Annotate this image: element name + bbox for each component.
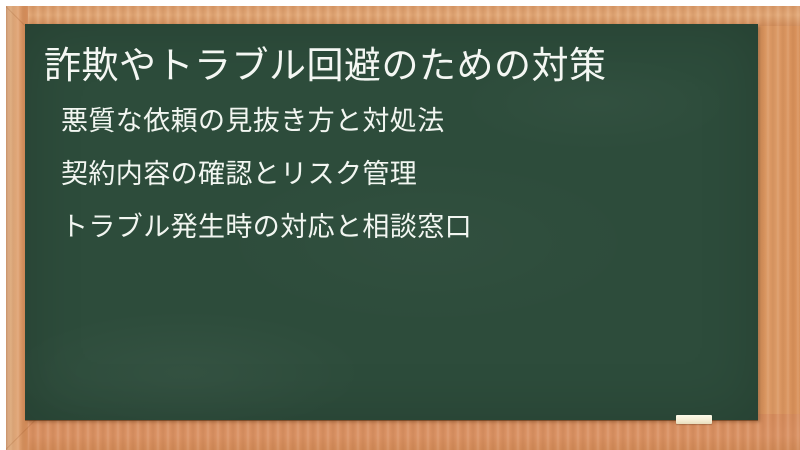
chalkboard-surface: 詐欺やトラブル回避のための対策 悪質な依頼の見抜き方と対処法 契約内容の確認とリ… — [25, 24, 758, 420]
bullet-item: 悪質な依頼の見抜き方と対処法 — [61, 108, 721, 135]
bullet-item: 契約内容の確認とリスク管理 — [61, 161, 721, 188]
bullet-list: 悪質な依頼の見抜き方と対処法 契約内容の確認とリスク管理 トラブル発生時の対応と… — [61, 108, 721, 267]
chalk-stick-icon — [676, 415, 712, 424]
slide-title: 詐欺やトラブル回避のための対策 — [44, 45, 607, 86]
chalkboard-slide: 詐欺やトラブル回避のための対策 悪質な依頼の見抜き方と対処法 契約内容の確認とリ… — [0, 0, 800, 450]
bullet-item: トラブル発生時の対応と相談窓口 — [61, 214, 721, 241]
